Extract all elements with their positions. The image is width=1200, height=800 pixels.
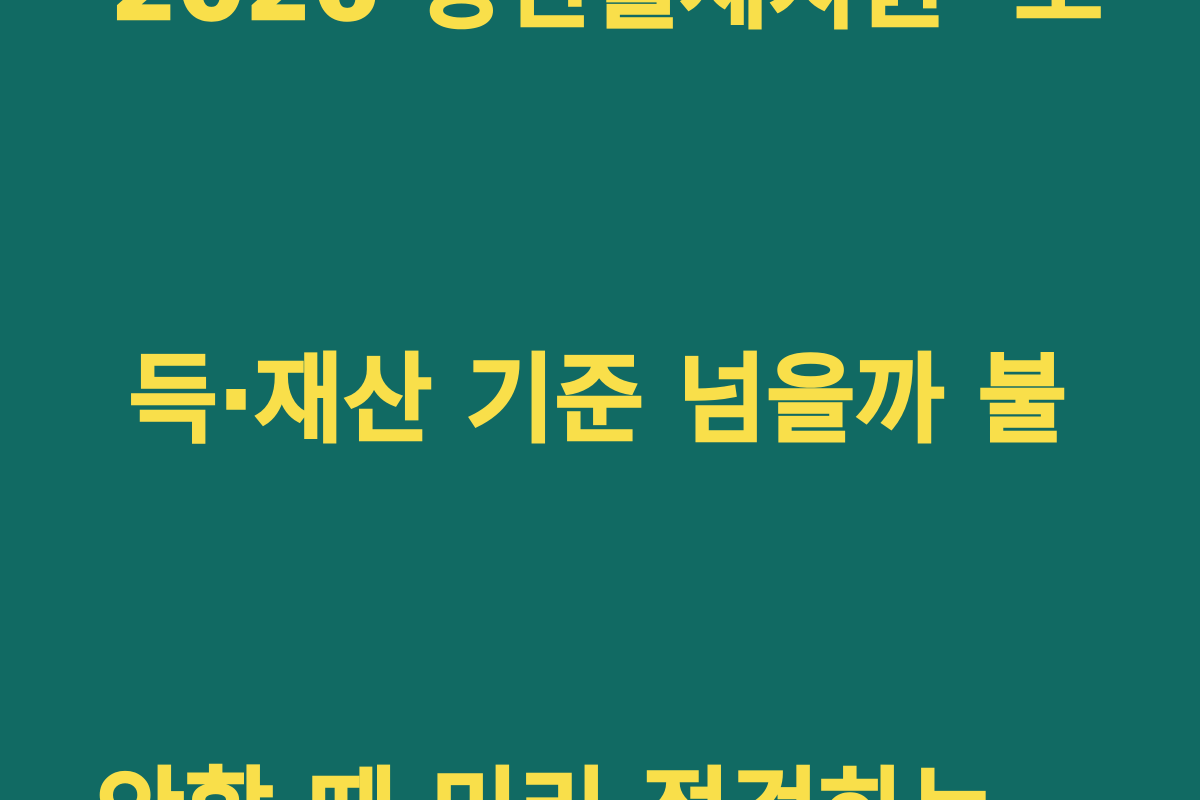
headline-line-3: 안할 때 미리 점검하는… [60, 745, 1130, 800]
headline-line-2: 득·재산 기준 넘을까 불 [66, 331, 1130, 469]
thumbnail-card: 2026 청년월세지원 소 득·재산 기준 넘을까 불 안할 때 미리 점검하는… [0, 0, 1200, 800]
page-title: 2026 청년월세지원 소 득·재산 기준 넘을까 불 안할 때 미리 점검하는… [0, 0, 1200, 800]
headline-line-1: 2026 청년월세지원 소 [84, 0, 1130, 55]
